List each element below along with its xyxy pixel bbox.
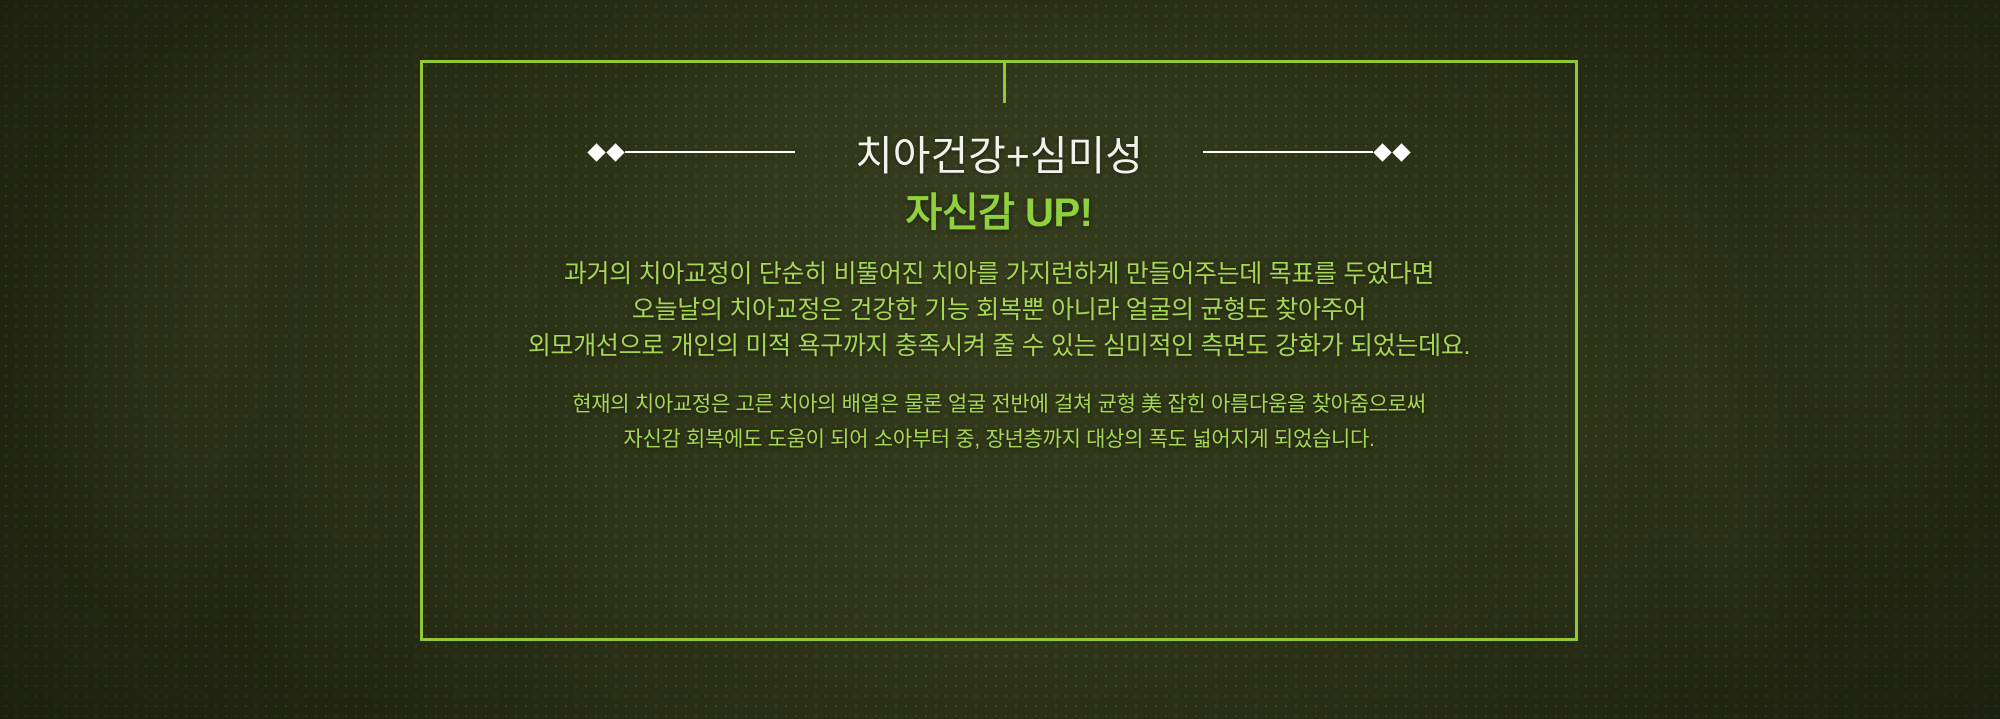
- ornament-right: [1203, 146, 1411, 159]
- paragraph-line: 오늘날의 치아교정은 건강한 기능 회복뿐 아니라 얼굴의 균형도 찾아주어: [420, 292, 1578, 328]
- body-paragraph-2: 현재의 치아교정은 고른 치아의 배열은 물론 얼굴 전반에 걸쳐 균형 美 잡…: [420, 387, 1578, 457]
- diamond-icon: [1392, 143, 1410, 161]
- paragraph-line: 자신감 회복에도 도움이 되어 소아부터 중, 장년층까지 대상의 폭도 넓어지…: [420, 422, 1578, 457]
- horizontal-rule-icon: [1203, 151, 1373, 153]
- paragraph-line: 과거의 치아교정이 단순히 비뚤어진 치아를 가지런하게 만들어주는데 목표를 …: [420, 256, 1578, 292]
- headline-row: 치아건강+심미성: [420, 122, 1578, 182]
- promo-banner: 치아건강+심미성 자신감 UP! 과거의 치아교정이 단순히 비뚤어진 치아를 …: [0, 0, 2000, 719]
- paragraph-line: 외모개선으로 개인의 미적 욕구까지 충족시켜 줄 수 있는 심미적인 측면도 …: [420, 328, 1578, 364]
- headline-title: 치아건강+심미성: [795, 122, 1203, 182]
- diamond-icon: [1373, 143, 1391, 161]
- banner-content: 치아건강+심미성 자신감 UP! 과거의 치아교정이 단순히 비뚤어진 치아를 …: [420, 60, 1578, 641]
- diamond-icon: [587, 143, 605, 161]
- diamond-icon: [606, 143, 624, 161]
- ornament-left: [587, 146, 795, 159]
- body-paragraph-1: 과거의 치아교정이 단순히 비뚤어진 치아를 가지런하게 만들어주는데 목표를 …: [420, 256, 1578, 364]
- paragraph-line: 현재의 치아교정은 고른 치아의 배열은 물론 얼굴 전반에 걸쳐 균형 美 잡…: [420, 387, 1578, 422]
- horizontal-rule-icon: [625, 151, 795, 153]
- headline-subtitle: 자신감 UP!: [420, 180, 1578, 238]
